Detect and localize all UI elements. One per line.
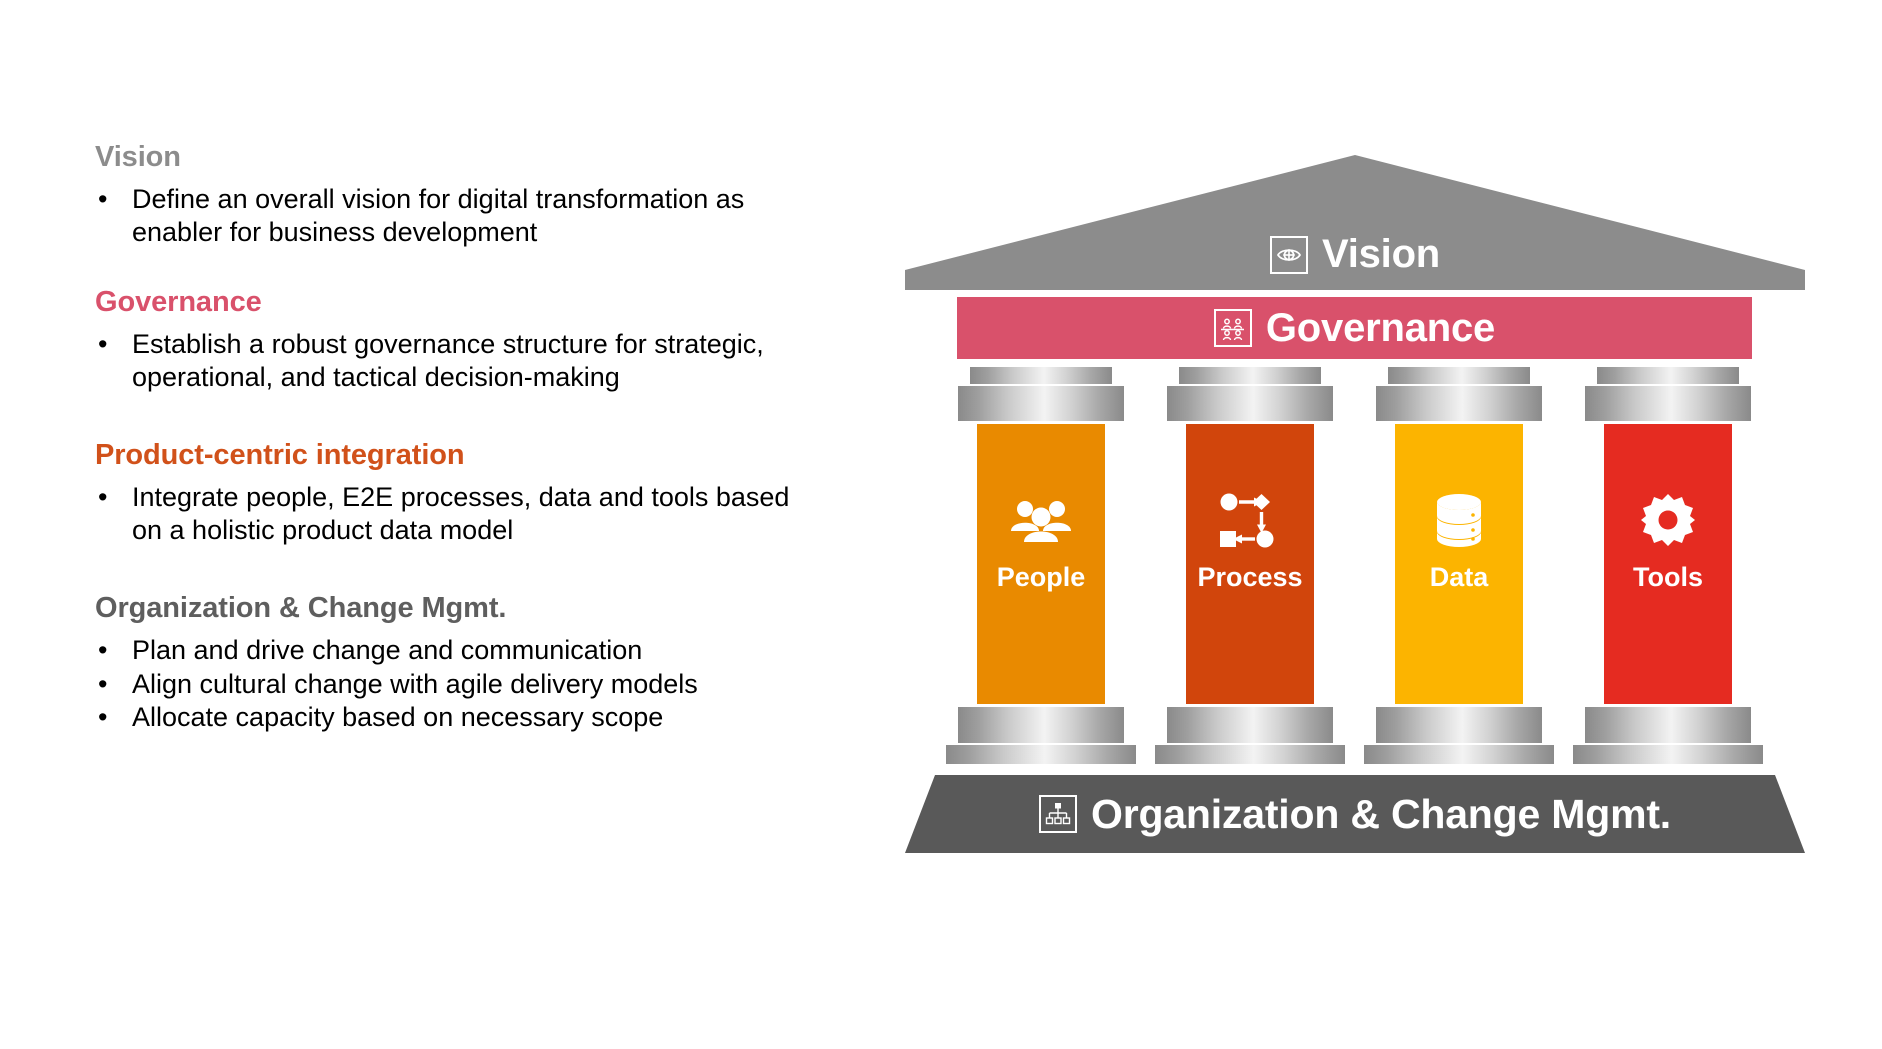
pillar-base-bottom (946, 745, 1136, 764)
foundation-shape (905, 775, 1805, 853)
pillar-tools[interactable]: Tools (1584, 367, 1752, 764)
pillar-base (1167, 707, 1333, 743)
bullet-list-organization-change-mgmt: • Plan and drive change and communicatio… (95, 634, 825, 733)
pillar-people[interactable]: People (957, 367, 1125, 764)
gear-icon (1632, 490, 1704, 550)
pillar-capital (1167, 386, 1333, 421)
left-text-panel: Vision • Define an overall vision for di… (95, 140, 825, 734)
pillar-capital (958, 386, 1124, 421)
list-item: • Establish a robust governance structur… (95, 328, 825, 393)
pillar-capital (1376, 386, 1542, 421)
flowchart-icon (1214, 490, 1286, 550)
section-heading-product-centric-integration: Product-centric integration (95, 438, 825, 472)
pillar-label: Data (1430, 564, 1489, 591)
pillar-capital-top (1179, 367, 1321, 384)
spacer (95, 249, 825, 285)
pillar-base (1376, 707, 1542, 743)
pillar-shaft: Process (1186, 424, 1314, 704)
pillar-process[interactable]: Process (1166, 367, 1334, 764)
people-group-icon (1005, 490, 1077, 550)
list-item-text: Align cultural change with agile deliver… (132, 669, 698, 699)
list-item-text: Establish a robust governance structure … (132, 329, 764, 391)
bullet-list-vision: • Define an overall vision for digital t… (95, 183, 825, 248)
pillar-data[interactable]: Data (1375, 367, 1543, 764)
governance-band: Governance (957, 297, 1752, 359)
bullet-dot-icon: • (98, 701, 107, 733)
spacer (95, 394, 825, 438)
list-item-text: Allocate capacity based on necessary sco… (132, 702, 663, 732)
pillar-base (958, 707, 1124, 743)
pillar-base-bottom (1155, 745, 1345, 764)
bullet-dot-icon: • (98, 668, 107, 700)
pillar-label: Process (1197, 564, 1302, 591)
list-item-text: Integrate people, E2E processes, data an… (132, 482, 789, 544)
database-icon (1423, 490, 1495, 550)
pillar-base-bottom (1364, 745, 1554, 764)
list-item: • Define an overall vision for digital t… (95, 183, 825, 248)
section-heading-vision: Vision (95, 140, 825, 174)
list-item: • Allocate capacity based on necessary s… (95, 701, 825, 733)
list-item: • Plan and drive change and communicatio… (95, 634, 825, 666)
bullet-list-governance: • Establish a robust governance structur… (95, 328, 825, 393)
spacer (95, 547, 825, 591)
bullet-dot-icon: • (98, 328, 107, 360)
roof-shape (905, 155, 1805, 290)
section-vision: Vision • Define an overall vision for di… (95, 140, 825, 248)
section-heading-governance: Governance (95, 285, 825, 319)
list-item-text: Define an overall vision for digital tra… (132, 184, 744, 246)
section-governance: Governance • Establish a robust governan… (95, 285, 825, 393)
pillar-label: Tools (1633, 564, 1703, 591)
group-meeting-icon (1214, 309, 1252, 347)
pillar-capital (1585, 386, 1751, 421)
pillar-base (1585, 707, 1751, 743)
pillar-capital-top (1388, 367, 1530, 384)
list-item-text: Plan and drive change and communication (132, 635, 642, 665)
governance-label: Governance (1266, 306, 1495, 351)
list-item: • Integrate people, E2E processes, data … (95, 481, 825, 546)
section-product-centric-integration: Product-centric integration • Integrate … (95, 438, 825, 546)
pillar-shaft: Tools (1604, 424, 1732, 704)
bullet-dot-icon: • (98, 481, 107, 513)
bullet-list-product-centric-integration: • Integrate people, E2E processes, data … (95, 481, 825, 546)
pillar-shaft: Data (1395, 424, 1523, 704)
pillar-shaft: People (977, 424, 1105, 704)
pillars-row: People (957, 367, 1752, 764)
bullet-dot-icon: • (98, 634, 107, 666)
temple-roof: Vision (905, 155, 1805, 290)
bullet-dot-icon: • (98, 183, 107, 215)
pillar-capital-top (970, 367, 1112, 384)
temple-foundation: Organization & Change Mgmt. (905, 775, 1805, 853)
pillar-base-bottom (1573, 745, 1763, 764)
pillar-label: People (997, 564, 1086, 591)
list-item: • Align cultural change with agile deliv… (95, 668, 825, 700)
pillar-capital-top (1597, 367, 1739, 384)
section-heading-organization-change-mgmt: Organization & Change Mgmt. (95, 591, 825, 625)
temple-diagram: Vision Governance (905, 155, 1805, 945)
section-organization-change-mgmt: Organization & Change Mgmt. • Plan and d… (95, 591, 825, 733)
